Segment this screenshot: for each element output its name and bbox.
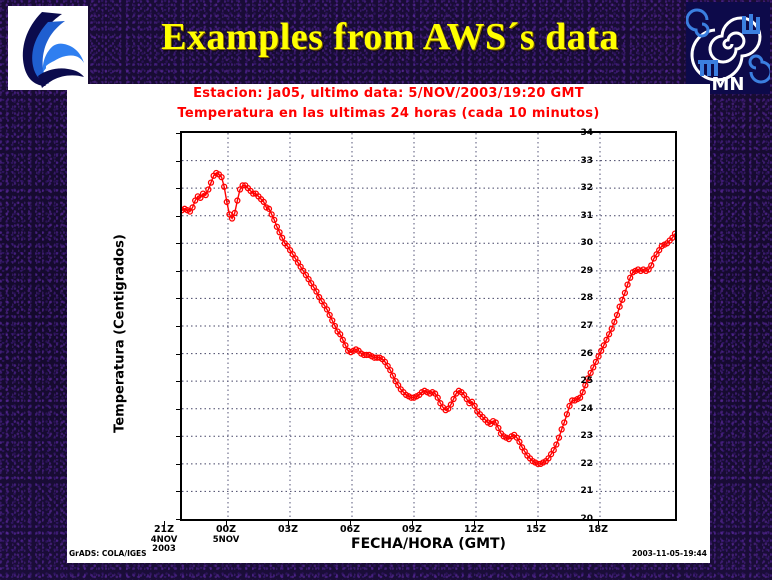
title-banner: Examples from AWS´s data <box>0 0 772 84</box>
grads-credit: GrADS: COLA/IGES <box>69 549 147 558</box>
y-tick-mark <box>176 243 181 244</box>
x-axis-label: FECHA/HORA (GMT) <box>180 536 677 552</box>
x-tick-mark <box>598 521 599 526</box>
y-tick-label: 22 <box>569 459 593 469</box>
y-axis-label: Temperatura (Centigrados) <box>113 219 128 449</box>
slide-background: Examples from AWS´s data <box>0 0 772 580</box>
y-tick-mark <box>176 271 181 272</box>
y-tick-mark <box>176 409 181 410</box>
chart-panel: Estacion: ja05, ultimo data: 5/NOV/2003/… <box>67 84 710 563</box>
y-tick-mark <box>176 354 181 355</box>
wave-logo-svg <box>8 6 88 90</box>
y-tick-label: 21 <box>569 486 593 496</box>
y-tick-label: 20 <box>569 514 593 524</box>
render-timestamp: 2003-11-05-19:44 <box>632 549 707 558</box>
y-tick-mark <box>176 188 181 189</box>
y-tick-label: 23 <box>569 431 593 441</box>
chart-title-line: Temperatura en las ultimas 24 horas (cad… <box>67 106 710 121</box>
y-tick-label: 31 <box>569 211 593 221</box>
y-tick-label: 30 <box>569 238 593 248</box>
y-tick-mark <box>176 161 181 162</box>
x-tick-mark <box>288 521 289 526</box>
y-tick-label: 34 <box>569 128 593 138</box>
smn-logo-text: MN <box>712 74 745 94</box>
y-tick-mark <box>176 464 181 465</box>
chart-station-line: Estacion: ja05, ultimo data: 5/NOV/2003/… <box>67 86 710 101</box>
temperature-series <box>182 170 675 466</box>
y-tick-label: 33 <box>569 156 593 166</box>
x-tick-mark <box>412 521 413 526</box>
x-tick-mark <box>350 521 351 526</box>
y-tick-mark <box>176 298 181 299</box>
smn-spiral-svg: MN <box>686 2 770 94</box>
y-tick-mark <box>176 326 181 327</box>
y-tick-label: 25 <box>569 376 593 386</box>
y-tick-label: 28 <box>569 293 593 303</box>
y-tick-mark <box>176 216 181 217</box>
y-tick-label: 27 <box>569 321 593 331</box>
page-title: Examples from AWS´s data <box>110 14 670 60</box>
x-tick-mark <box>226 521 227 526</box>
y-tick-label: 26 <box>569 349 593 359</box>
y-tick-mark <box>176 436 181 437</box>
y-tick-mark <box>176 381 181 382</box>
x-tick-mark <box>164 521 165 526</box>
y-tick-mark <box>176 133 181 134</box>
y-tick-mark <box>176 491 181 492</box>
y-tick-label: 32 <box>569 183 593 193</box>
y-tick-mark <box>176 519 181 520</box>
y-tick-label: 24 <box>569 404 593 414</box>
plot-frame <box>180 131 677 521</box>
y-tick-label: 29 <box>569 266 593 276</box>
plot-area <box>182 133 675 519</box>
smn-spiral-logo: MN <box>686 2 770 94</box>
x-tick-mark <box>536 521 537 526</box>
x-tick-sublabel: 4NOV2003 <box>151 536 178 554</box>
temperature-plot <box>182 133 675 519</box>
x-tick-mark <box>474 521 475 526</box>
wave-logo <box>8 6 88 90</box>
